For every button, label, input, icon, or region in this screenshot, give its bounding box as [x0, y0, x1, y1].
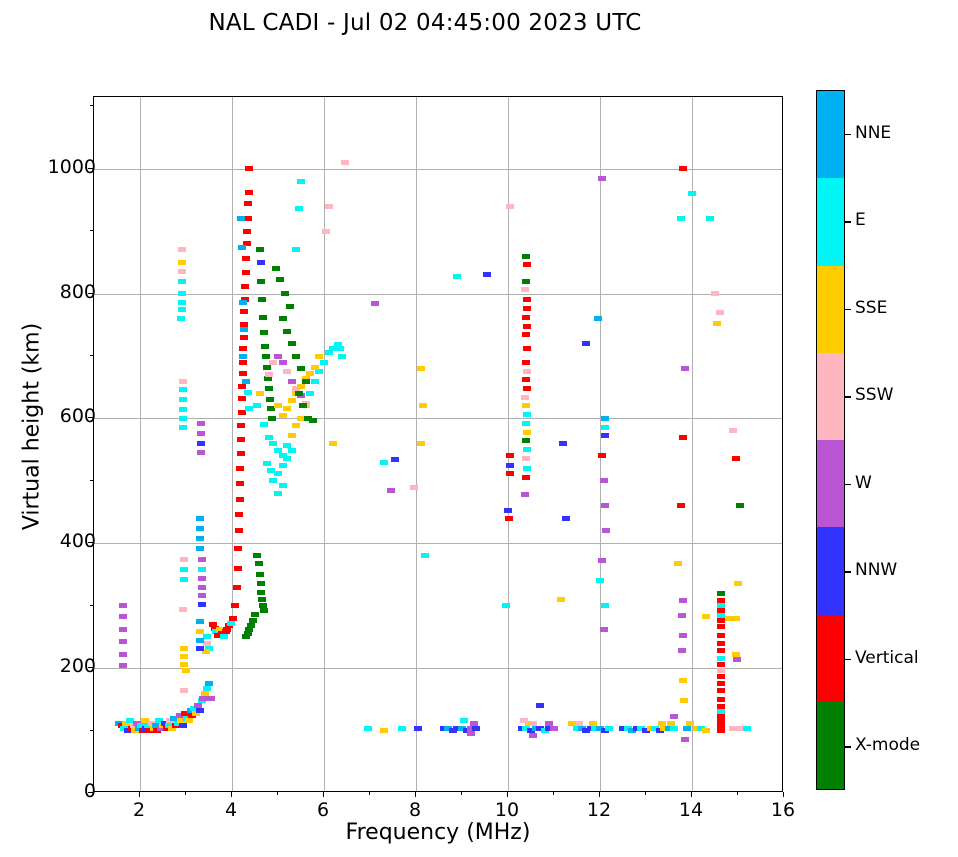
echo-mark	[283, 369, 291, 374]
colorbar-tick	[845, 396, 851, 397]
echo-mark	[179, 379, 187, 384]
echo-mark	[180, 567, 188, 572]
echo-mark	[196, 629, 204, 634]
echo-mark	[338, 354, 346, 359]
colorbar-segment	[817, 440, 844, 527]
colorbar-tick	[845, 571, 851, 572]
echo-mark	[523, 324, 531, 329]
y-tick-minor	[90, 230, 93, 231]
echo-mark	[237, 451, 245, 456]
echo-mark	[523, 466, 531, 471]
echo-mark	[311, 365, 319, 370]
echo-mark	[256, 247, 264, 252]
echo-mark	[237, 423, 245, 428]
x-tick	[507, 792, 508, 797]
colorbar-label: E	[855, 210, 866, 230]
echo-mark	[521, 492, 529, 497]
echo-mark	[234, 546, 242, 551]
echo-mark	[242, 256, 250, 261]
echo-mark	[520, 718, 528, 723]
echo-mark	[717, 591, 725, 596]
x-tick	[415, 792, 416, 797]
echo-mark	[716, 310, 724, 315]
echo-mark	[236, 466, 244, 471]
echo-mark	[245, 406, 253, 411]
echo-mark	[281, 291, 289, 296]
echo-mark	[179, 425, 187, 430]
echo-mark	[257, 590, 265, 595]
echo-mark	[506, 463, 514, 468]
echo-mark	[239, 346, 247, 351]
echo-mark	[196, 516, 204, 521]
echo-mark	[311, 379, 319, 384]
echo-mark	[119, 663, 127, 668]
echo-mark	[601, 503, 609, 508]
echo-mark	[717, 656, 725, 661]
colorbar-tick	[845, 659, 851, 660]
echo-mark	[119, 652, 127, 657]
echo-mark	[180, 557, 188, 562]
echo-mark	[283, 406, 291, 411]
echo-mark	[453, 274, 461, 279]
echo-mark	[601, 433, 609, 438]
echo-mark	[259, 315, 267, 320]
echo-mark	[523, 447, 531, 452]
y-tick-minor	[90, 355, 93, 356]
echo-mark	[414, 726, 422, 731]
y-axis-label: Virtual height (km)	[20, 227, 45, 627]
echo-mark	[263, 365, 271, 370]
echo-mark	[256, 391, 264, 396]
echo-mark	[196, 646, 204, 651]
echo-mark	[522, 315, 530, 320]
echo-mark	[242, 634, 250, 639]
echo-mark	[677, 503, 685, 508]
colorbar-segment	[817, 527, 844, 614]
echo-mark	[736, 503, 744, 508]
echo-mark	[341, 160, 349, 165]
echo-mark	[177, 316, 185, 321]
x-tick-minor	[553, 792, 554, 795]
echo-mark	[702, 614, 710, 619]
echo-mark	[178, 279, 186, 284]
echo-mark	[523, 346, 531, 351]
echo-mark	[325, 204, 333, 209]
colorbar-label: W	[855, 473, 872, 493]
echo-mark	[717, 641, 725, 646]
echo-mark	[196, 536, 204, 541]
echo-mark	[261, 344, 269, 349]
echo-mark	[233, 585, 241, 590]
echo-mark	[269, 441, 277, 446]
echo-mark	[679, 166, 687, 171]
colorbar-label: SSE	[855, 298, 887, 318]
echo-mark	[702, 728, 710, 733]
colorbar-label: NNE	[855, 123, 891, 143]
colorbar	[816, 90, 845, 790]
y-tick-label: 1000	[6, 156, 96, 178]
echo-mark	[197, 441, 205, 446]
echo-mark	[717, 648, 725, 653]
echo-mark	[197, 421, 205, 426]
echo-mark	[238, 384, 246, 389]
echo-mark	[198, 557, 206, 562]
echo-mark	[717, 668, 725, 673]
echo-mark	[267, 468, 275, 473]
echo-mark	[522, 475, 530, 480]
echo-mark	[732, 616, 740, 621]
echo-mark	[605, 726, 613, 731]
echo-mark	[502, 603, 510, 608]
echo-mark	[178, 260, 186, 265]
echo-mark	[733, 657, 741, 662]
echo-mark	[658, 721, 666, 726]
echo-mark	[119, 614, 127, 619]
echo-mark	[288, 398, 296, 403]
echo-mark	[711, 291, 719, 296]
page-title: NAL CADI - Jul 02 04:45:00 2023 UTC	[0, 10, 850, 36]
gridline-horizontal	[94, 543, 782, 544]
echo-mark	[119, 627, 127, 632]
echo-mark	[522, 332, 530, 337]
colorbar-tick	[845, 746, 851, 747]
colorbar-segment	[817, 702, 844, 789]
echo-mark	[506, 453, 514, 458]
echo-mark	[504, 508, 512, 513]
echo-mark	[244, 390, 252, 395]
echo-mark	[322, 229, 330, 234]
echo-mark	[257, 581, 265, 586]
echo-mark	[272, 266, 280, 271]
echo-mark	[306, 391, 314, 396]
echo-mark	[237, 437, 245, 442]
colorbar-tick	[845, 484, 851, 485]
echo-mark	[269, 360, 277, 365]
echo-mark	[717, 728, 725, 733]
echo-mark	[380, 460, 388, 465]
echo-mark	[239, 354, 247, 359]
echo-mark	[419, 403, 427, 408]
echo-mark	[279, 316, 287, 321]
echo-mark	[288, 341, 296, 346]
echo-mark	[523, 369, 531, 374]
echo-mark	[598, 176, 606, 181]
echo-mark	[670, 726, 678, 731]
echo-mark	[717, 618, 725, 623]
echo-mark	[320, 360, 328, 365]
echo-mark	[732, 456, 740, 461]
echo-mark	[229, 616, 237, 621]
echo-mark	[729, 428, 737, 433]
echo-mark	[529, 733, 537, 738]
echo-mark	[274, 491, 282, 496]
gridline-horizontal	[94, 294, 782, 295]
gridline-vertical	[140, 97, 141, 791]
echo-mark	[387, 488, 395, 493]
echo-mark	[203, 686, 211, 691]
echo-mark	[205, 681, 213, 686]
echo-mark	[292, 354, 300, 359]
echo-mark	[688, 191, 696, 196]
echo-mark	[391, 457, 399, 462]
echo-mark	[713, 321, 721, 326]
colorbar-label: SSW	[855, 385, 893, 405]
x-axis-label: Frequency (MHz)	[93, 820, 783, 845]
echo-mark	[197, 450, 205, 455]
echo-mark	[197, 431, 205, 436]
echo-mark	[255, 561, 263, 566]
echo-mark	[258, 297, 266, 302]
echo-mark	[235, 512, 243, 517]
echo-mark	[245, 190, 253, 195]
echo-mark	[522, 377, 530, 382]
echo-mark	[198, 585, 206, 590]
echo-mark	[279, 463, 287, 468]
echo-mark	[521, 287, 529, 292]
echo-mark	[242, 270, 250, 275]
echo-mark	[243, 229, 251, 234]
y-tick-minor	[90, 105, 93, 106]
x-tick	[599, 792, 600, 797]
echo-mark	[178, 300, 186, 305]
echo-mark	[279, 360, 287, 365]
echo-mark	[240, 327, 248, 332]
x-tick	[231, 792, 232, 797]
echo-mark	[288, 448, 296, 453]
echo-mark	[679, 598, 687, 603]
echo-mark	[679, 435, 687, 440]
echo-mark	[505, 516, 513, 521]
echo-mark	[237, 216, 245, 221]
echo-mark	[460, 718, 468, 723]
echo-mark	[236, 497, 244, 502]
x-tick-label: 12	[569, 799, 629, 821]
echo-mark	[260, 608, 268, 613]
echo-mark	[678, 648, 686, 653]
echo-mark	[180, 577, 188, 582]
echo-mark	[523, 306, 531, 311]
echo-mark	[743, 726, 751, 731]
echo-mark	[522, 403, 530, 408]
echo-mark	[180, 662, 188, 667]
echo-mark	[268, 416, 276, 421]
echo-mark	[240, 309, 248, 314]
echo-mark	[678, 613, 686, 618]
x-tick-minor	[737, 792, 738, 795]
x-tick-minor	[369, 792, 370, 795]
echo-mark	[601, 603, 609, 608]
echo-mark	[523, 386, 531, 391]
echo-mark	[178, 291, 186, 296]
echo-mark	[119, 603, 127, 608]
colorbar-label: NNW	[855, 560, 897, 580]
echo-mark	[179, 387, 187, 392]
colorbar-tick	[845, 309, 851, 310]
echo-mark	[410, 485, 418, 490]
echo-mark	[185, 718, 193, 723]
echo-mark	[470, 721, 478, 726]
x-tick-minor	[461, 792, 462, 795]
echo-mark	[265, 435, 273, 440]
echo-mark	[269, 478, 277, 483]
echo-mark	[371, 301, 379, 306]
echo-mark	[536, 703, 544, 708]
echo-mark	[220, 634, 228, 639]
echo-mark	[506, 204, 514, 209]
echo-mark	[522, 360, 530, 365]
x-tick-label: 2	[109, 799, 169, 821]
echo-mark	[679, 633, 687, 638]
echo-mark	[306, 371, 314, 376]
echo-mark	[236, 481, 244, 486]
colorbar-label: X-mode	[855, 735, 920, 755]
y-tick-label: 200	[6, 655, 96, 677]
y-tick-minor	[90, 730, 93, 731]
echo-mark	[680, 698, 688, 703]
colorbar-segment	[817, 266, 844, 353]
echo-mark	[297, 366, 305, 371]
echo-mark	[529, 721, 537, 726]
echo-mark	[288, 379, 296, 384]
x-tick	[783, 792, 784, 797]
echo-mark	[725, 616, 733, 621]
echo-mark	[506, 471, 514, 476]
echo-mark	[594, 316, 602, 321]
echo-mark	[198, 567, 206, 572]
echo-mark	[717, 624, 725, 629]
echo-mark	[717, 633, 725, 638]
echo-mark	[260, 422, 268, 427]
echo-mark	[336, 346, 344, 351]
echo-mark	[251, 612, 259, 617]
gridline-vertical	[324, 97, 325, 791]
echo-mark	[196, 638, 204, 643]
echo-mark	[483, 272, 491, 277]
echo-mark	[257, 279, 265, 284]
echo-mark	[679, 678, 687, 683]
echo-mark	[329, 441, 337, 446]
echo-mark	[196, 619, 204, 624]
echo-mark	[178, 269, 186, 274]
echo-mark	[398, 726, 406, 731]
gridline-vertical	[600, 97, 601, 791]
echo-mark	[600, 478, 608, 483]
echo-mark	[589, 721, 597, 726]
echo-mark	[231, 603, 239, 608]
x-tick-minor	[277, 792, 278, 795]
echo-mark	[467, 731, 475, 736]
echo-mark	[522, 438, 530, 443]
echo-mark	[522, 279, 530, 284]
echo-mark	[242, 379, 250, 384]
echo-mark	[196, 546, 204, 551]
echo-mark	[179, 407, 187, 412]
echo-mark	[706, 216, 714, 221]
echo-mark	[258, 597, 266, 602]
echo-mark	[598, 558, 606, 563]
echo-mark	[245, 166, 253, 171]
echo-mark	[227, 621, 235, 626]
echo-mark	[557, 597, 565, 602]
echo-mark	[266, 397, 274, 402]
y-tick-minor	[90, 605, 93, 606]
echo-mark	[677, 216, 685, 221]
echo-mark	[522, 456, 530, 461]
echo-mark	[670, 714, 678, 719]
echo-mark	[522, 254, 530, 259]
echo-mark	[523, 262, 531, 267]
echo-mark	[292, 423, 300, 428]
echo-mark	[274, 471, 282, 476]
echo-mark	[417, 441, 425, 446]
echo-mark	[196, 708, 204, 713]
x-tick-minor	[645, 792, 646, 795]
echo-mark	[257, 260, 265, 265]
echo-mark	[309, 418, 317, 423]
x-tick-label: 10	[477, 799, 537, 821]
echo-mark	[239, 300, 247, 305]
x-tick-label: 8	[385, 799, 445, 821]
echo-mark	[265, 386, 273, 391]
echo-mark	[315, 354, 323, 359]
echo-mark	[667, 721, 675, 726]
echo-mark	[119, 639, 127, 644]
echo-mark	[238, 396, 246, 401]
echo-mark	[717, 662, 725, 667]
echo-mark	[295, 206, 303, 211]
echo-mark	[283, 456, 291, 461]
x-tick-minor	[185, 792, 186, 795]
echo-mark	[602, 528, 610, 533]
echo-mark	[674, 561, 682, 566]
echo-mark	[717, 688, 725, 693]
echo-mark	[521, 395, 529, 400]
echo-mark	[421, 553, 429, 558]
colorbar-tick	[845, 221, 851, 222]
echo-mark	[276, 277, 284, 282]
echo-mark	[256, 572, 264, 577]
echo-mark	[417, 366, 425, 371]
echo-mark	[234, 566, 242, 571]
echo-mark	[550, 726, 558, 731]
colorbar-segment	[817, 353, 844, 440]
echo-mark	[297, 384, 305, 389]
echo-mark	[562, 516, 570, 521]
echo-mark	[274, 403, 282, 408]
gridline-horizontal	[94, 668, 782, 669]
echo-mark	[238, 245, 246, 250]
echo-mark	[178, 307, 186, 312]
y-tick-minor	[90, 480, 93, 481]
colorbar-segment	[817, 91, 844, 178]
echo-mark	[179, 607, 187, 612]
echo-mark	[283, 329, 291, 334]
echo-mark	[207, 696, 215, 701]
echo-mark	[292, 247, 300, 252]
echo-mark	[596, 578, 604, 583]
echo-mark	[683, 726, 691, 731]
echo-mark	[235, 528, 243, 533]
x-tick	[323, 792, 324, 797]
echo-mark	[717, 681, 725, 686]
echo-mark	[179, 723, 187, 728]
echo-mark	[523, 430, 531, 435]
echo-mark	[203, 634, 211, 639]
echo-mark	[241, 284, 249, 289]
echo-mark	[681, 737, 689, 742]
x-tick	[139, 792, 140, 797]
echo-mark	[253, 403, 261, 408]
